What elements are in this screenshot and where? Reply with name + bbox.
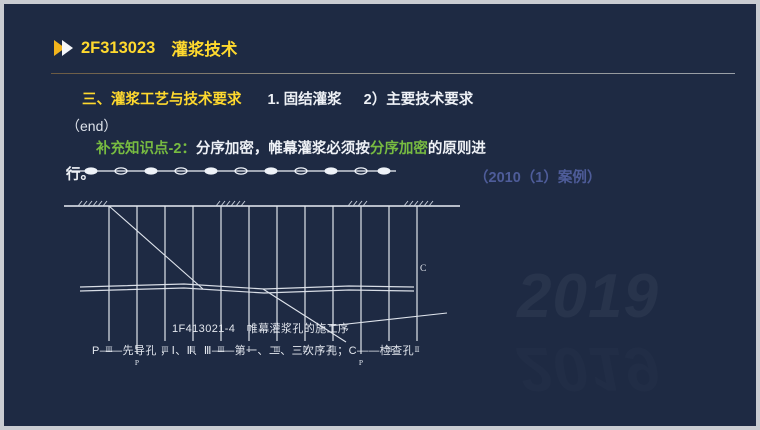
slide-canvas: 2019 2019 2F313023 灌浆技术 三、灌浆工艺与技术要求1. 固结… <box>4 4 756 426</box>
rock-layer-band <box>80 284 414 293</box>
hole-label-11: Ⅱ <box>414 345 419 354</box>
year-watermark-reflection: 2019 <box>517 337 659 399</box>
supplementary-note-body-2: 的原则进 <box>428 141 486 157</box>
chevron-right-icon-white <box>62 40 73 56</box>
figure-caption: 1F413021-4 帷幕灌浆孔的施工序 <box>172 320 349 336</box>
section-heading-sub-1: 1. 固结灌浆 <box>268 92 342 108</box>
supplementary-note-body-1: 分序加密，帷幕灌浆必须按 <box>196 141 370 157</box>
page-title: 灌浆技术 <box>171 36 237 60</box>
slide-header: 2F313023 灌浆技术 <box>54 35 237 61</box>
hole-label-9: P <box>359 358 363 366</box>
end-marker: （end） <box>66 116 117 136</box>
section-heading-main: 三、灌浆工艺与技术要求 <box>82 92 242 108</box>
header-divider <box>51 73 735 74</box>
case-reference: （2010（1）案例） <box>474 166 601 187</box>
page-title-code: 2F313023 <box>81 39 155 58</box>
hole-label-1: P <box>135 358 139 366</box>
check-hole-label: C <box>420 264 426 274</box>
double-chevron-icon <box>54 40 70 56</box>
figure-legend: P——先导孔 ，Ⅰ、Ⅱ、Ⅲ——第一、二、三次序孔；C——检查孔 <box>92 342 414 358</box>
supplementary-note-highlight: 分序加密 <box>370 141 428 157</box>
ground-hatching <box>78 201 433 206</box>
section-heading-sub-2: 2）主要技术要求 <box>364 92 474 108</box>
section-heading-row: 三、灌浆工艺与技术要求1. 固结灌浆2）主要技术要求 <box>82 88 473 109</box>
year-watermark: 2019 <box>517 266 659 328</box>
supplementary-note-row: 补充知识点-2：分序加密，帷幕灌浆必须按分序加密的原则进 <box>96 137 486 158</box>
supplementary-note-label: 补充知识点-2： <box>96 141 196 157</box>
